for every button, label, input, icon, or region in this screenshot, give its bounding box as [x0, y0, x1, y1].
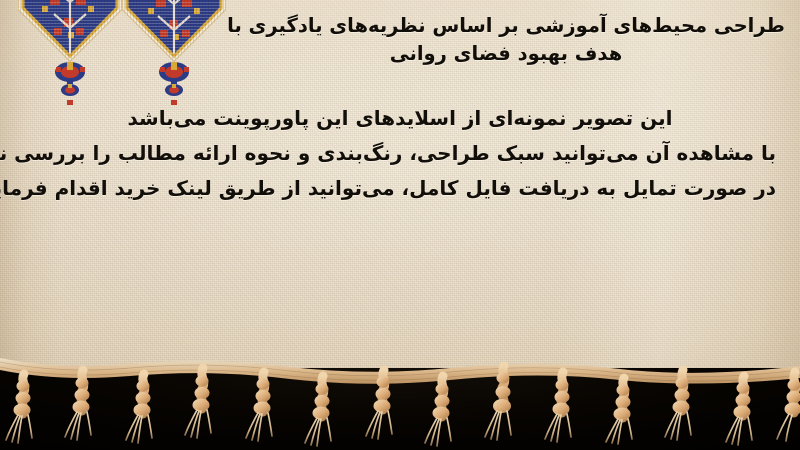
- slide-title: طراحی محیط‌های آموزشی بر اساس نظریه‌های …: [226, 12, 786, 67]
- slide-body-line-1: این تصویر نمونه‌ای از اسلایدهای این پاور…: [0, 108, 800, 128]
- slide-text-layer: طراحی محیط‌های آموزشی بر اساس نظریه‌های …: [0, 0, 800, 374]
- slide-title-line-2: هدف بهبود فضای روانی: [390, 42, 622, 65]
- dark-lower-field: [0, 368, 800, 450]
- slide-body-line-2: با مشاهده آن می‌توانید سبک طراحی، رنگ‌بن…: [0, 143, 800, 163]
- slide-title-line-1: طراحی محیط‌های آموزشی بر اساس نظریه‌های …: [227, 14, 785, 37]
- slide-body-line-3: در صورت تمایل به دریافت فایل کامل، می‌تو…: [0, 178, 800, 198]
- presentation-slide: طراحی محیط‌های آموزشی بر اساس نظریه‌های …: [0, 0, 800, 450]
- slide-body: این تصویر نمونه‌ای از اسلایدهای این پاور…: [0, 108, 800, 198]
